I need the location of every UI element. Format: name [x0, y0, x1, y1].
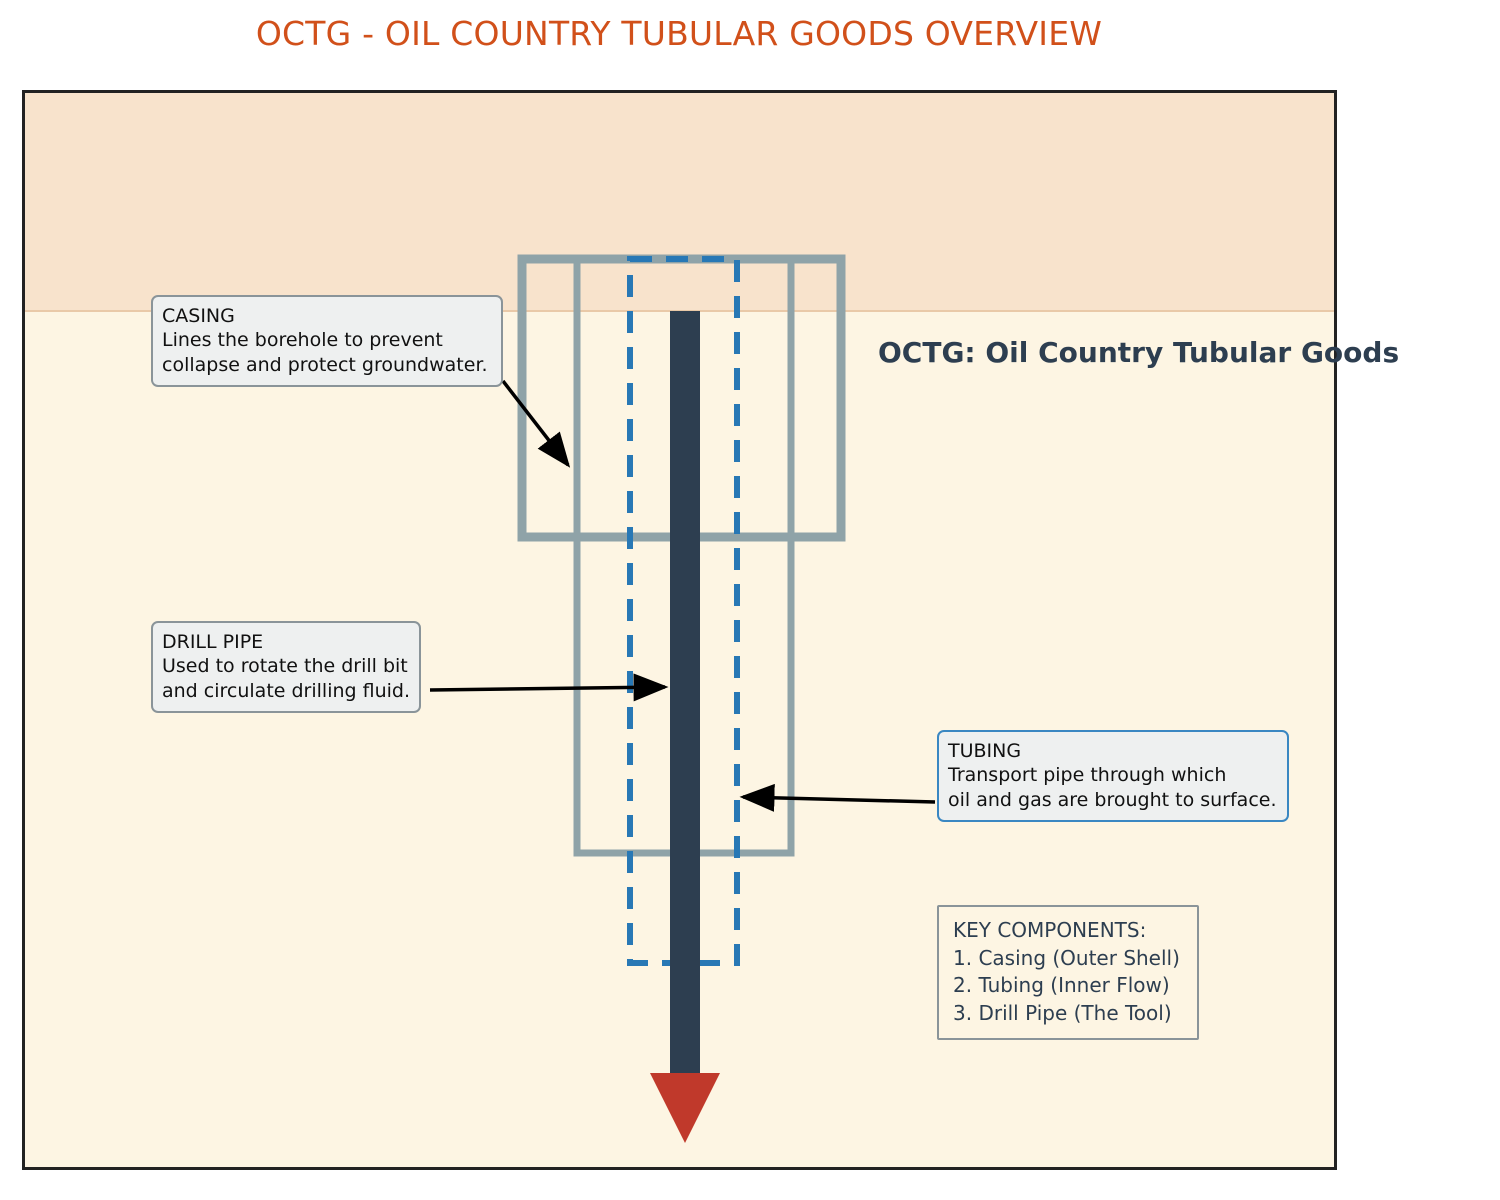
tubing-annotation-arrow [743, 797, 935, 802]
casing-annotation-arrow [503, 381, 568, 465]
annotation-drill-pipe: DRILL PIPE Used to rotate the drill bit … [151, 621, 421, 713]
drill-bit-icon [650, 1073, 720, 1143]
page-title: OCTG - OIL COUNTRY TUBULAR GOODS OVERVIE… [0, 14, 1358, 53]
diagram-canvas: OCTG: Oil Country Tubular Goods CASING L… [22, 90, 1337, 1170]
key-components-legend: KEY COMPONENTS: 1. Casing (Outer Shell) … [937, 905, 1199, 1040]
octg-header-label: OCTG: Oil Country Tubular Goods [878, 336, 1399, 369]
drill-pipe-body [670, 311, 700, 1073]
annotation-tubing: TUBING Transport pipe through which oil … [937, 730, 1289, 822]
annotation-casing: CASING Lines the borehole to prevent col… [151, 295, 503, 387]
